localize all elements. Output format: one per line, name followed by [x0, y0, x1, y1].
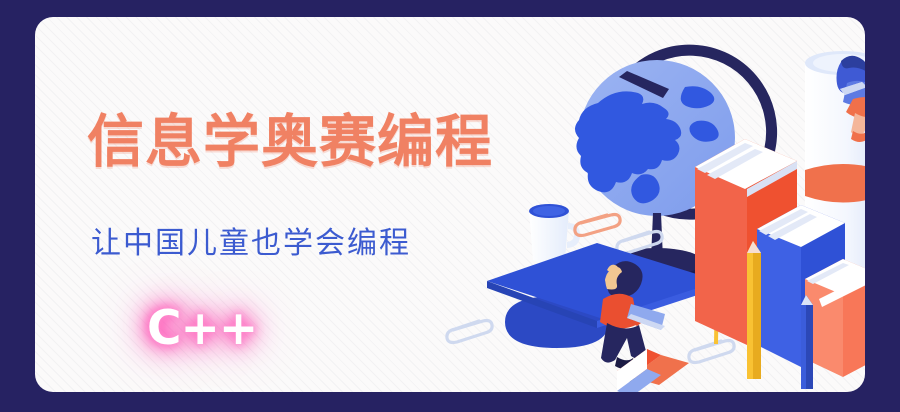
paperclip-icon — [575, 215, 620, 236]
paperclip-icon — [447, 321, 492, 343]
cpp-badge: C++ — [147, 305, 257, 352]
pencil-icon — [747, 241, 761, 379]
page-subtitle: 让中国儿童也学会编程 — [91, 229, 411, 259]
pencil-icon — [801, 295, 813, 389]
course-promo-banner: 信息学奥赛编程 让中国儿童也学会编程 C++ — [0, 0, 900, 412]
book-stack-icon — [805, 259, 865, 377]
eraser-icon — [617, 349, 689, 392]
page-title: 信息学奥赛编程 — [87, 114, 493, 171]
banner-panel: 信息学奥赛编程 让中国儿童也学会编程 C++ — [35, 17, 865, 392]
paperclip-icon — [689, 341, 734, 363]
